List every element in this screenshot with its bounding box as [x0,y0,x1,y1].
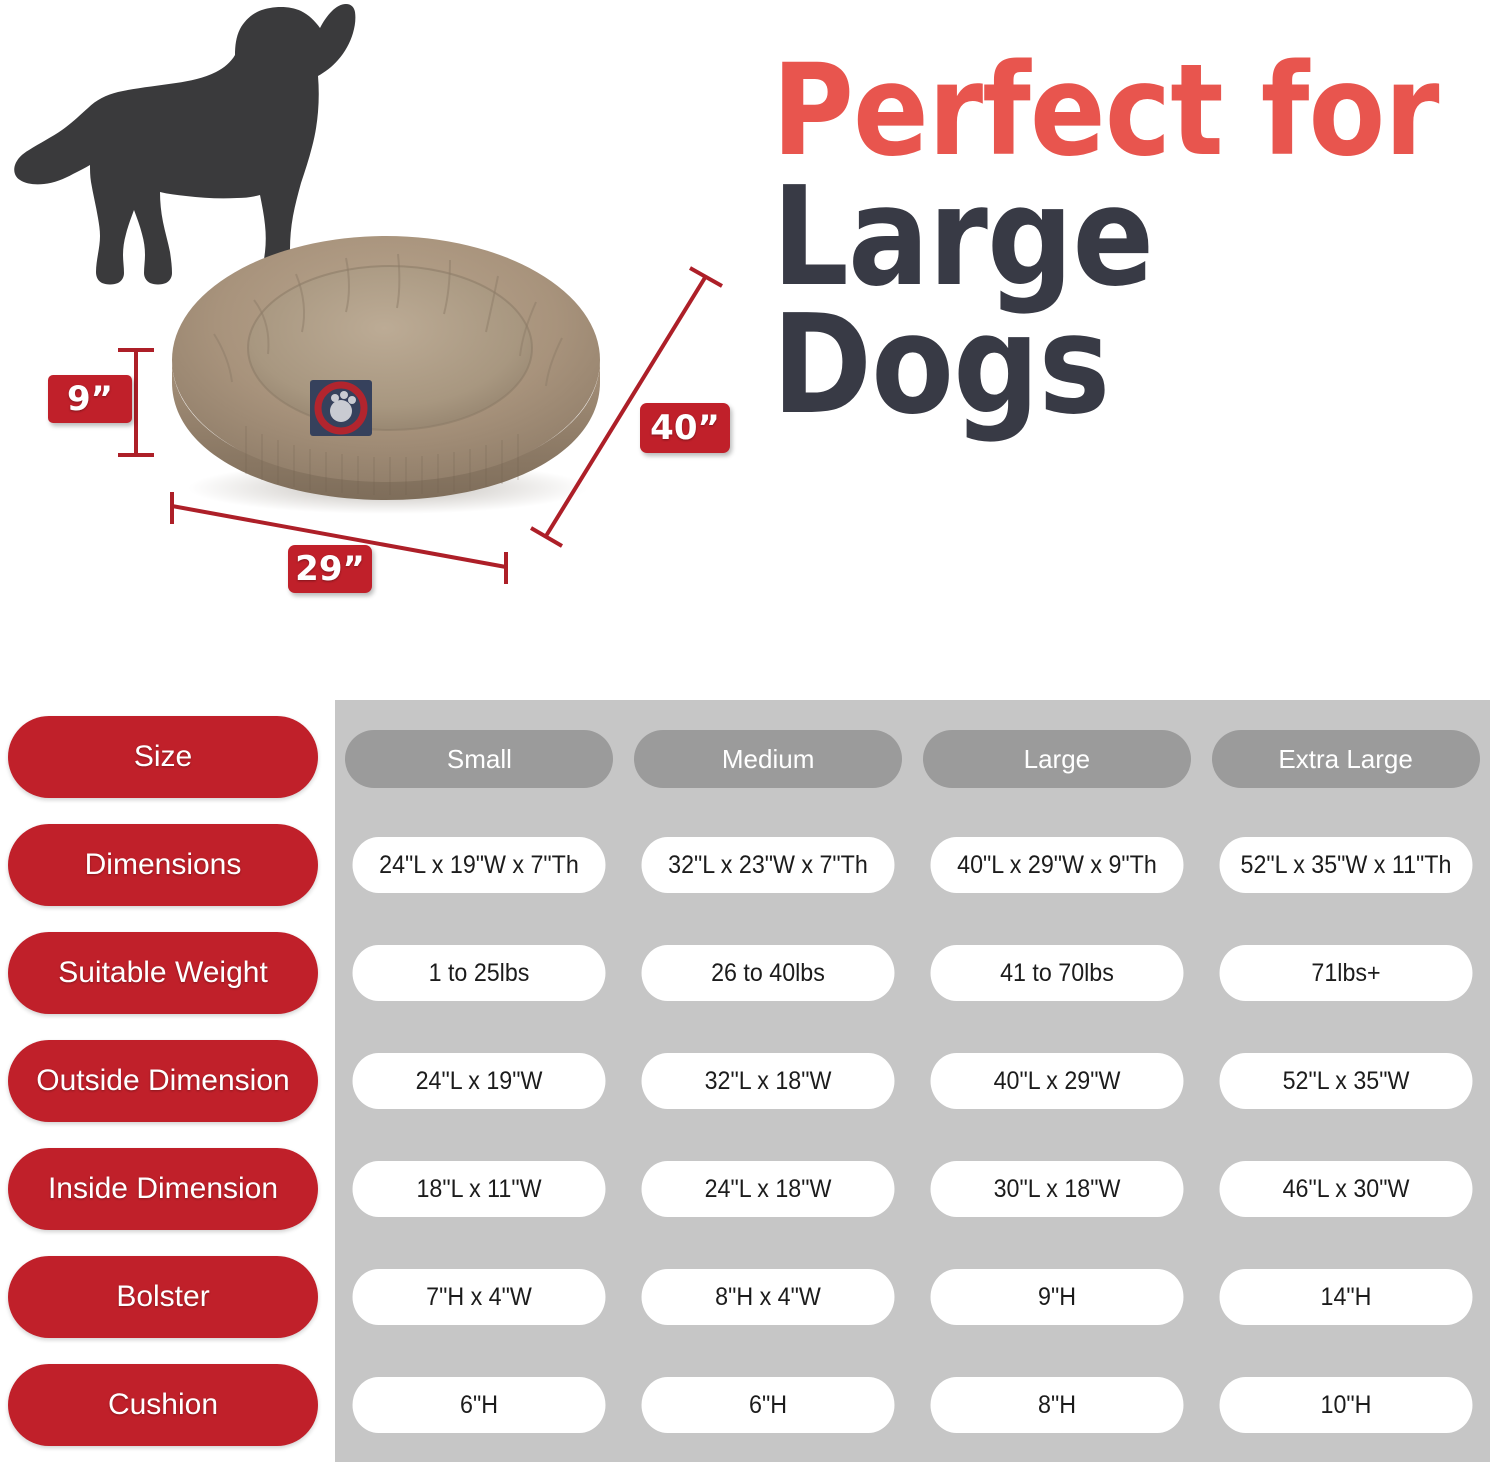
column-header-large: Large [923,730,1191,788]
cell-bolster-small: 7"H x 4"W [353,1269,606,1325]
cell-inside-small: 18"L x 11"W [353,1161,606,1217]
column-header-extra-large: Extra Large [1212,730,1480,788]
cell-bolster-extra-large: 14"H [1219,1269,1472,1325]
cell-outside-extra-large: 52"L x 35"W [1219,1053,1472,1109]
callout-badge-length: 40” [640,403,730,453]
cell-outside-large: 40"L x 29"W [930,1053,1183,1109]
row-label-cushion: Cushion [8,1364,318,1446]
row-label-size: Size [8,716,318,798]
cell-cushion-large: 8"H [930,1377,1183,1433]
row-label-dimensions: Dimensions [8,824,318,906]
cell-outside-small: 24"L x 19"W [353,1053,606,1109]
cell-dimensions-medium: 32"L x 23"W x 7"Th [642,837,895,893]
cell-weight-large: 41 to 70lbs [930,945,1183,1001]
row-label-bolster: Bolster [8,1256,318,1338]
brand-tag-icon [310,380,372,436]
headline-line-2: Large [772,175,1406,301]
cell-inside-large: 30"L x 18"W [930,1161,1183,1217]
hero-section: Perfect for Large Dogs 9” 29” 40” [0,0,1500,700]
spec-table: Size Dimensions Suitable Weight Outside … [0,700,1500,1462]
cell-weight-medium: 26 to 40lbs [642,945,895,1001]
table-row: 6"H 6"H 8"H 10"H [335,1377,1490,1433]
callout-badge-width: 29” [288,545,372,593]
headline-line-3: Dogs [772,303,1406,429]
row-label-suitable-weight: Suitable Weight [8,932,318,1014]
product-photo-dog-bed [150,182,620,522]
table-row: 1 to 25lbs 26 to 40lbs 41 to 70lbs 71lbs… [335,945,1490,1001]
cell-weight-small: 1 to 25lbs [353,945,606,1001]
table-row: 24"L x 19"W x 7"Th 32"L x 23"W x 7"Th 40… [335,837,1490,893]
table-row: 7"H x 4"W 8"H x 4"W 9"H 14"H [335,1269,1490,1325]
cell-cushion-medium: 6"H [642,1377,895,1433]
column-header-medium: Medium [634,730,902,788]
headline: Perfect for Large Dogs [772,52,1492,429]
cell-outside-medium: 32"L x 18"W [642,1053,895,1109]
row-label-outside-dimension: Outside Dimension [8,1040,318,1122]
cell-bolster-medium: 8"H x 4"W [642,1269,895,1325]
cell-cushion-small: 6"H [353,1377,606,1433]
headline-line-1: Perfect for [772,52,1406,169]
cell-cushion-extra-large: 10"H [1219,1377,1472,1433]
cell-bolster-large: 9"H [930,1269,1183,1325]
table-row: 24"L x 19"W 32"L x 18"W 40"L x 29"W 52"L… [335,1053,1490,1109]
callout-badge-height: 9” [48,375,132,423]
cell-weight-extra-large: 71lbs+ [1219,945,1472,1001]
cell-inside-medium: 24"L x 18"W [642,1161,895,1217]
spec-table-header-row: Small Medium Large Extra Large [335,730,1490,788]
cell-dimensions-large: 40"L x 29"W x 9"Th [930,837,1183,893]
cell-inside-extra-large: 46"L x 30"W [1219,1161,1472,1217]
column-header-small: Small [345,730,613,788]
cell-dimensions-small: 24"L x 19"W x 7"Th [353,837,606,893]
row-label-inside-dimension: Inside Dimension [8,1148,318,1230]
cell-dimensions-extra-large: 52"L x 35"W x 11"Th [1219,837,1472,893]
table-row: 18"L x 11"W 24"L x 18"W 30"L x 18"W 46"L… [335,1161,1490,1217]
spec-table-label-column: Size Dimensions Suitable Weight Outside … [8,700,318,1462]
